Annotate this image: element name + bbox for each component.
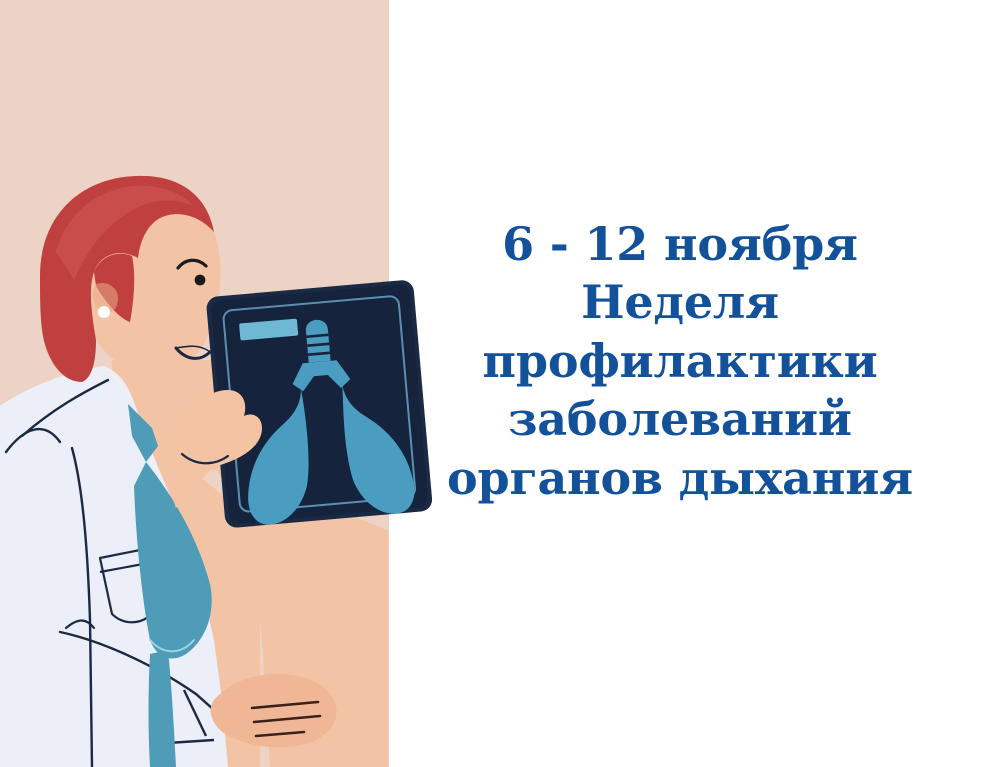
headline-line-1: 6 - 12 ноября xyxy=(400,215,960,273)
headline-block: 6 - 12 ноября Неделя профилактики заболе… xyxy=(400,215,960,507)
earring xyxy=(98,306,110,318)
poster-root: 6 - 12 ноября Неделя профилактики заболе… xyxy=(0,0,981,767)
headline-line-5: органов дыхания xyxy=(400,449,960,507)
doctor-illustration xyxy=(0,0,450,767)
doctor-head xyxy=(40,176,220,382)
eye xyxy=(195,275,206,286)
headline-line-2: Неделя xyxy=(400,273,960,331)
headline-line-3: профилактики xyxy=(400,332,960,390)
headline-line-4: заболеваний xyxy=(400,390,960,448)
